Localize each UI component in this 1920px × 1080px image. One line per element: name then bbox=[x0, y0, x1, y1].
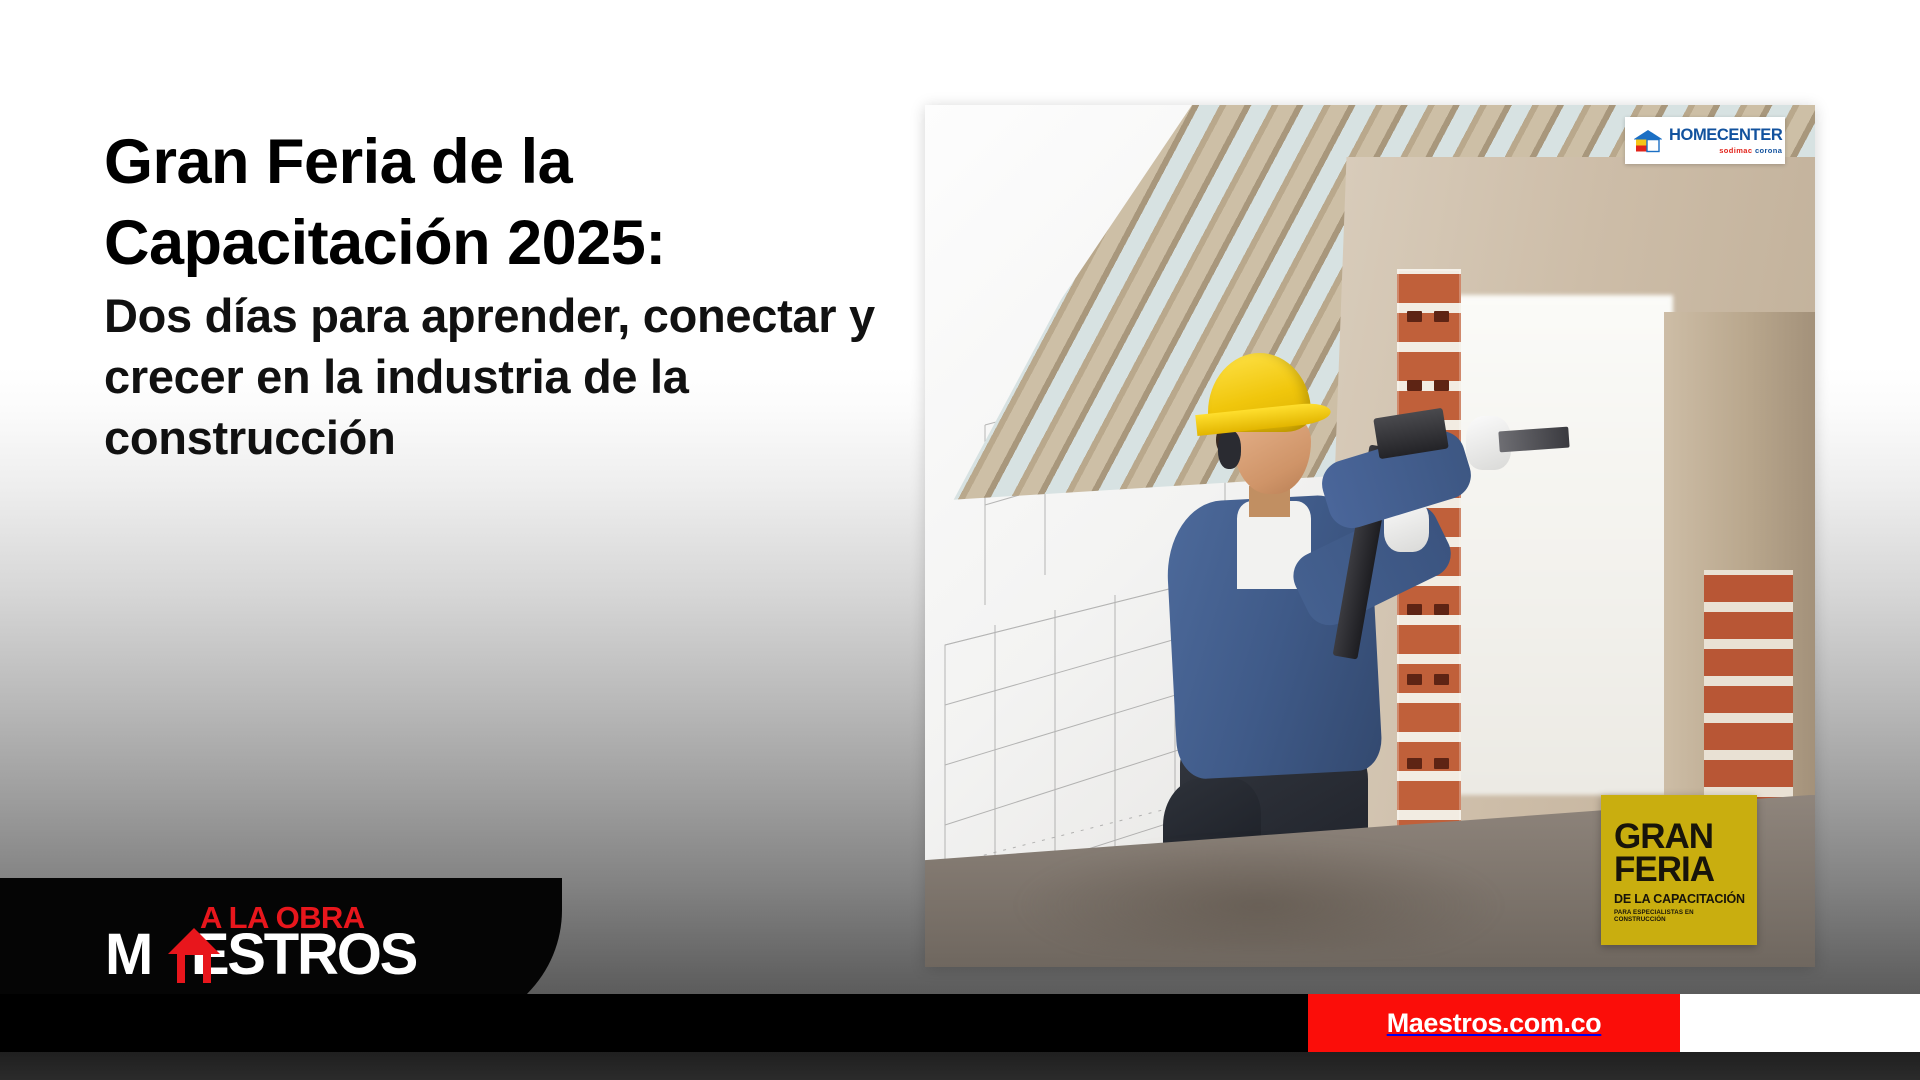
ear-protection-icon bbox=[1218, 430, 1241, 469]
badge-line-feria: FERIA bbox=[1614, 854, 1745, 886]
a-la-obra-maestros-logo[interactable]: A LA OBRA MAESTROS bbox=[105, 894, 405, 1010]
homecenter-wordmark: HOMECENTER sodimac corona bbox=[1669, 127, 1782, 154]
tagline-sodimac: sodimac bbox=[1719, 146, 1752, 155]
gran-feria-badge: GRAN FERIA DE LA CAPACITACIÓN PARA ESPEC… bbox=[1601, 795, 1757, 945]
homecenter-logo: HOMECENTER sodimac corona bbox=[1625, 117, 1785, 164]
site-url-label: Maestros.com.co bbox=[1387, 1008, 1602, 1039]
homecenter-tagline: sodimac corona bbox=[1669, 147, 1782, 155]
page-subtitle: Dos días para aprender, conectar y crece… bbox=[104, 285, 894, 468]
hero-photo: HOMECENTER sodimac corona GRAN FERIA DE … bbox=[925, 105, 1815, 967]
tagline-corona: corona bbox=[1755, 146, 1782, 155]
house-icon bbox=[1633, 129, 1663, 153]
footer-base-strip bbox=[0, 1052, 1920, 1080]
article-copy-block: Gran Feria de la Capacitación 2025: Dos … bbox=[104, 122, 894, 469]
footer-black-bar bbox=[0, 994, 1308, 1052]
site-url-button[interactable]: Maestros.com.co bbox=[1308, 994, 1680, 1052]
brand-letter-m: M bbox=[105, 922, 151, 987]
page-title: Gran Feria de la Capacitación 2025: bbox=[104, 122, 894, 283]
brand-wordmark: MAESTROS bbox=[105, 926, 416, 984]
homecenter-name: HOMECENTER bbox=[1669, 127, 1782, 144]
badge-line-capacitacion: DE LA CAPACITACIÓN bbox=[1614, 892, 1745, 906]
badge-line-especialistas: PARA ESPECIALISTAS EN CONSTRUCCIÓN bbox=[1614, 909, 1745, 923]
dust-shadow bbox=[1014, 838, 1504, 950]
brand-word-estros: ESTROS bbox=[191, 922, 416, 987]
badge-line-gran: GRAN bbox=[1614, 821, 1745, 853]
house-roof-icon bbox=[165, 925, 223, 985]
